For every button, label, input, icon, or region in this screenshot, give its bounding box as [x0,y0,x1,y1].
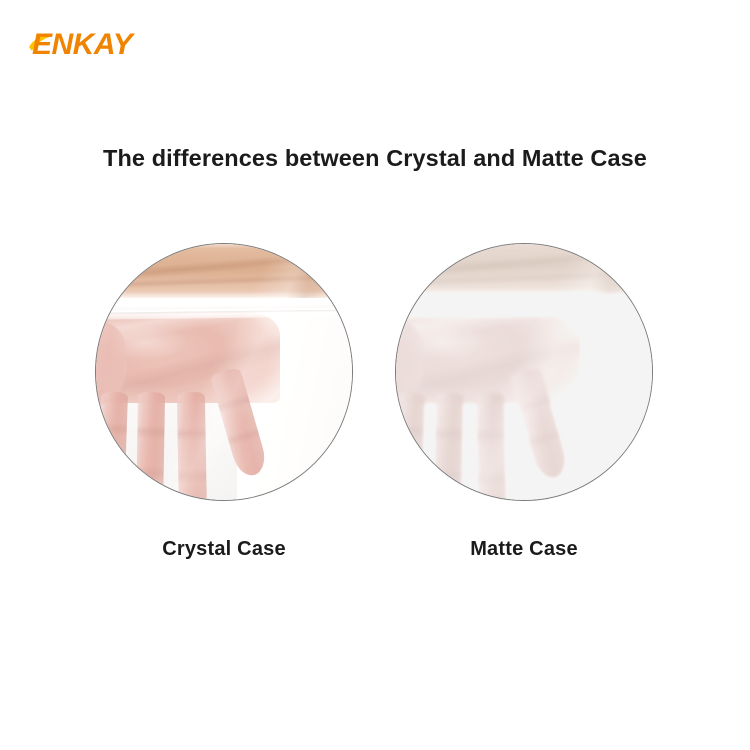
brand-name: ENKAY [32,30,132,60]
finger [433,393,463,501]
brand-logo: ENKAY [32,28,132,62]
hand-through-crystal-case-image [96,244,352,500]
finger [97,392,128,500]
finger [136,392,165,500]
finger [475,393,506,501]
comparison-row [0,243,750,503]
hand-through-matte-case-image [395,243,653,501]
upper-fingers [96,244,352,298]
product-photo-crystal [95,243,353,501]
product-comparison-page: ENKAY The differences between Crystal an… [0,0,750,750]
finger [177,392,207,500]
caption-crystal-case: Crystal Case [95,538,353,561]
upper-fingers [395,243,653,296]
comparison-item-matte [395,243,653,501]
finger [395,393,425,501]
caption-matte-case: Matte Case [395,538,653,561]
comparison-item-crystal [95,243,353,501]
page-title: The differences between Crystal and Matt… [0,145,750,172]
product-photo-matte [395,243,653,501]
